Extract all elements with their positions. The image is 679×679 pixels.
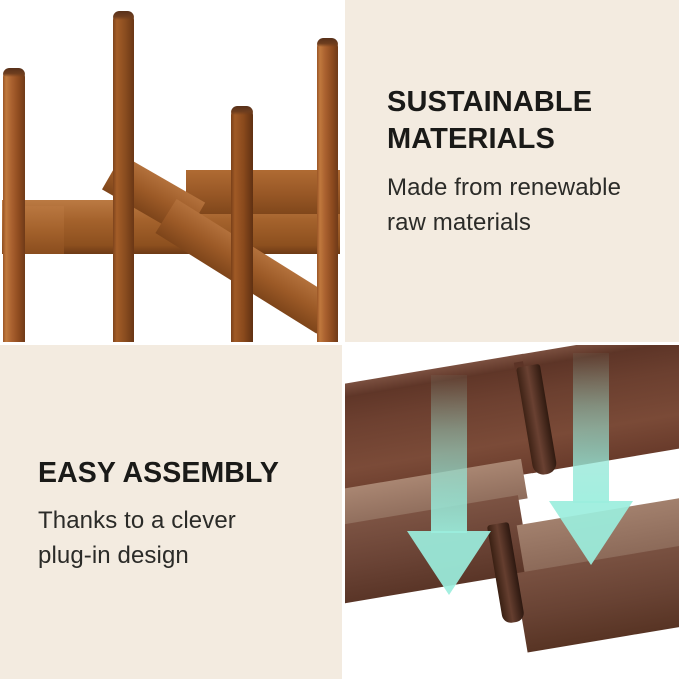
plant-stand-illustration bbox=[0, 0, 342, 342]
easy-assembly-subline: Thanks to a clever plug-in design bbox=[38, 504, 328, 573]
panel-plant-stand-photo bbox=[0, 0, 342, 342]
product-infographic: SUSTAINABLE MATERIALS Made from renewabl… bbox=[0, 0, 679, 679]
stand-leg-rear-left bbox=[113, 11, 134, 342]
assembly-arrow-left-shaft bbox=[431, 375, 467, 533]
sustainable-materials-subline: Made from renewable raw materials bbox=[387, 171, 667, 240]
panel-sustainable-materials: SUSTAINABLE MATERIALS Made from renewabl… bbox=[345, 0, 679, 342]
panel-easy-assembly: EASY ASSEMBLY Thanks to a clever plug-in… bbox=[0, 345, 342, 679]
sustainable-materials-headline: SUSTAINABLE MATERIALS bbox=[387, 84, 667, 158]
stand-leg-rear-right bbox=[231, 106, 253, 342]
assembly-arrow-left-head bbox=[407, 531, 491, 595]
stand-leg-front-right bbox=[317, 38, 338, 342]
sustainable-materials-textblock: SUSTAINABLE MATERIALS Made from renewabl… bbox=[387, 84, 667, 240]
plug-in-joint-illustration bbox=[345, 345, 679, 679]
assembly-arrow-right-shaft bbox=[573, 353, 609, 503]
easy-assembly-textblock: EASY ASSEMBLY Thanks to a clever plug-in… bbox=[38, 455, 328, 574]
panel-plug-in-joint-photo bbox=[345, 345, 679, 679]
easy-assembly-headline: EASY ASSEMBLY bbox=[38, 455, 328, 491]
stand-leg-front-left bbox=[3, 68, 25, 342]
assembly-arrow-right-head bbox=[549, 501, 633, 565]
